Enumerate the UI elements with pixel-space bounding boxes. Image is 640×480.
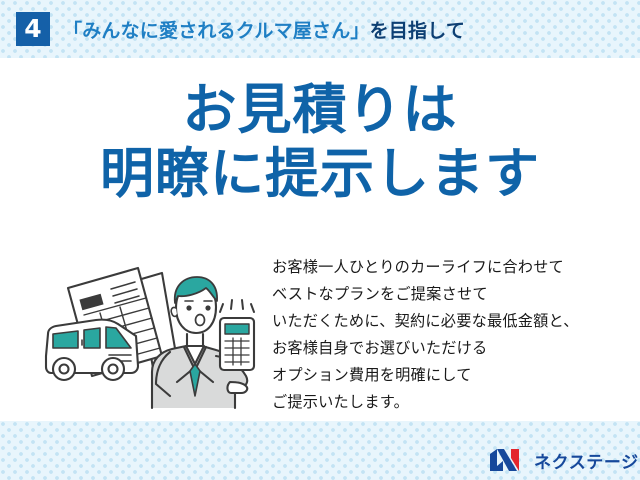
body-line: お客様一人ひとりのカーライフに合わせて (272, 254, 622, 281)
header-title-tail: を目指して (370, 20, 465, 42)
body-line: ご提示いたします。 (272, 389, 622, 416)
body-line: ベストなプランをご提案させて (272, 281, 622, 308)
headline: お見積りは 明瞭に提示します (0, 82, 640, 201)
body-line: いただくために、契約に必要な最低金額と、 (272, 308, 622, 335)
body-copy: お客様一人ひとりのカーライフに合わせて ベストなプランをご提案させて いただくた… (272, 254, 622, 416)
van-illustration (46, 320, 138, 380)
illustration-estimate-scene (34, 256, 272, 416)
body-line: お客様自身でお選びいただける (272, 335, 622, 362)
header-title-quoted: 「みんなに愛されるクルマ屋さん」 (63, 20, 370, 42)
footer-brand-logo: ネクステージ (489, 445, 639, 475)
headline-line-2: 明瞭に提示します (0, 146, 640, 202)
body-line: オプション費用を明確にして (272, 362, 622, 389)
nextage-n-logo-icon (489, 447, 527, 473)
promo-slide: 4 「みんなに愛されるクルマ屋さん」を目指して お見積りは 明瞭に提示します お… (0, 0, 640, 480)
brand-name: ネクステージ (534, 448, 639, 473)
illustration-svg (34, 256, 272, 416)
header: 4 「みんなに愛されるクルマ屋さん」を目指して (0, 0, 640, 58)
step-number-badge: 4 (16, 12, 50, 46)
calculator-illustration (220, 300, 254, 370)
header-title: 「みんなに愛されるクルマ屋さん」を目指して (63, 16, 465, 43)
headline-line-1: お見積りは (0, 82, 640, 138)
